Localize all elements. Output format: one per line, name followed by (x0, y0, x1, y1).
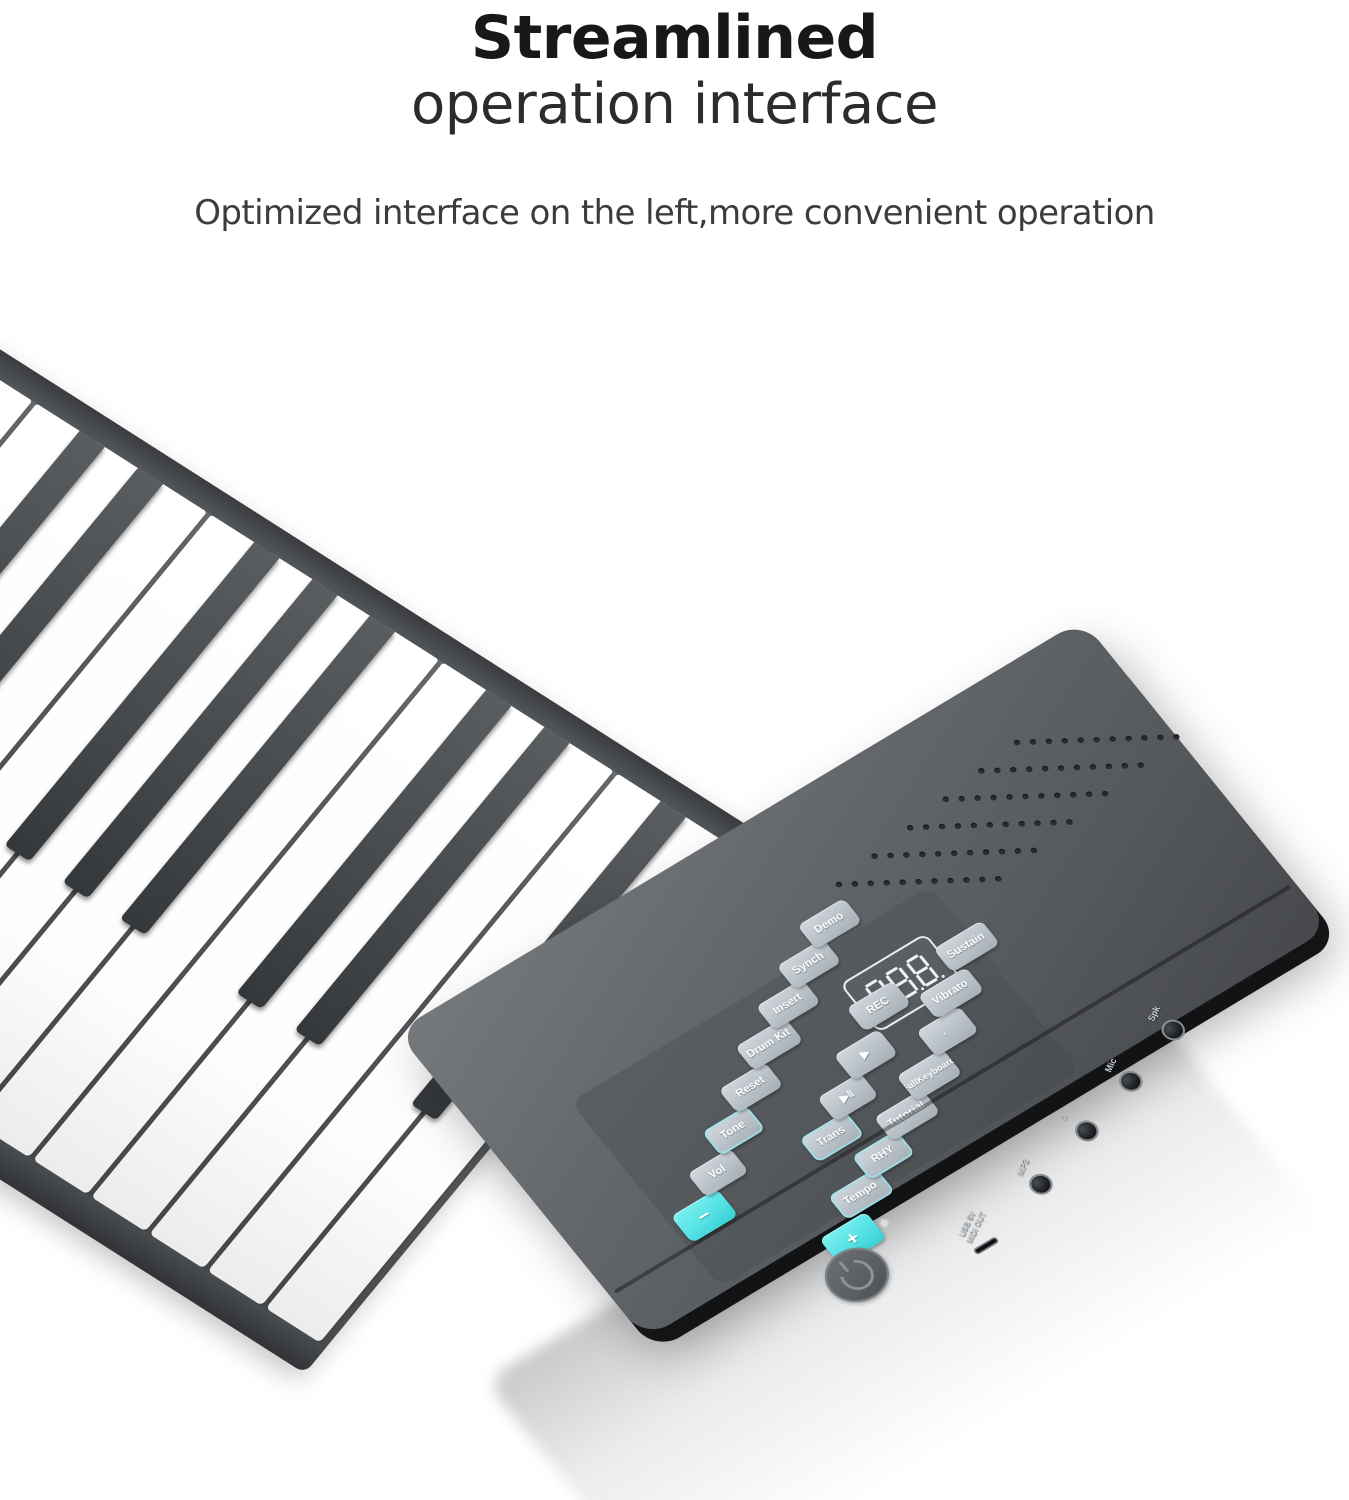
grille-hole (978, 768, 985, 774)
status-led-indicator (879, 1218, 889, 1227)
control-button-play[interactable]: ▶ (833, 1029, 898, 1081)
grille-hole (1093, 737, 1100, 743)
grille-row (907, 819, 1073, 830)
grille-row (871, 848, 1037, 859)
grille-hole (986, 822, 993, 828)
button-label-line: Keyboard (915, 1056, 958, 1086)
grille-hole (1022, 794, 1029, 800)
grille-hole (954, 823, 961, 829)
grille-row (835, 876, 1001, 887)
grille-hole (915, 879, 922, 885)
control-button-play-pause[interactable]: ▶‖ (817, 1073, 879, 1122)
grille-hole (970, 823, 977, 829)
headline-block: Streamlined operation interface Optimize… (0, 0, 1349, 233)
grille-hole (974, 795, 981, 801)
grille-hole (1045, 739, 1052, 745)
grille-hole (1014, 740, 1021, 746)
grille-hole (942, 796, 949, 802)
port-phones[interactable] (1070, 1117, 1103, 1146)
control-button-drum-kit[interactable]: Drum Kit (735, 1017, 804, 1070)
grille-hole (1141, 735, 1148, 741)
control-button-tone[interactable]: Tone (702, 1106, 766, 1156)
grille-hole (931, 878, 938, 884)
grille-row (1014, 734, 1180, 745)
product-marketing-image: −VolToneResetDrum KitInsertSynchDemoTran… (0, 0, 1349, 1500)
grille-hole (899, 879, 906, 885)
led-segment (908, 979, 919, 991)
grille-hole (851, 881, 858, 887)
grille-hole (995, 876, 1002, 882)
grille-hole (1014, 848, 1021, 854)
grille-hole (867, 881, 874, 887)
port-label-phones: ⌂ (1057, 1113, 1069, 1122)
grille-hole (939, 824, 946, 830)
control-button-vol[interactable]: Vol (687, 1148, 749, 1197)
grille-hole (1018, 821, 1025, 827)
led-segment (919, 955, 930, 967)
grille-hole (1102, 791, 1109, 797)
grille-hole (963, 877, 970, 883)
grille-hole (1030, 848, 1037, 854)
grille-hole (883, 880, 890, 886)
grille-hole (835, 882, 842, 888)
control-button-full-keyboard[interactable]: FullKeyboard (896, 1049, 963, 1102)
grille-hole (994, 767, 1001, 773)
grille-hole (999, 849, 1006, 855)
port-label-spk: Spk (1146, 1005, 1163, 1023)
grille-hole (947, 878, 954, 884)
grille-hole (1121, 763, 1128, 769)
page-title-line2: operation interface (0, 74, 1349, 137)
grille-hole (1002, 821, 1009, 827)
grille-hole (1010, 767, 1017, 773)
grille-hole (1105, 764, 1112, 770)
grille-hole (1026, 766, 1033, 772)
port-label-mp3: MP3 (1014, 1157, 1031, 1177)
grille-hole (919, 852, 926, 858)
control-button-demo[interactable]: Demo (797, 898, 862, 949)
led-segment (898, 967, 909, 979)
grille-row (978, 762, 1144, 773)
control-button-metronome[interactable]: ♩ (916, 1006, 979, 1057)
grille-hole (1042, 766, 1049, 772)
grille-hole (1086, 791, 1093, 797)
grille-hole (1029, 739, 1036, 745)
grille-row (942, 791, 1108, 802)
led-decimal-point (941, 974, 945, 978)
grille-hole (1058, 765, 1065, 771)
grille-hole (1089, 764, 1096, 770)
grille-hole (887, 853, 894, 859)
port-mic[interactable] (1114, 1067, 1147, 1096)
page-subtitle: Optimized interface on the left,more con… (0, 193, 1349, 233)
control-button-rhy[interactable]: RHY (852, 1130, 916, 1180)
led-segment (915, 966, 928, 975)
led-segment (916, 975, 927, 987)
grille-hole (935, 851, 942, 857)
grille-hole (1173, 734, 1180, 740)
port-label-usb-midi: USB 5VMIDI OUT (955, 1207, 988, 1245)
control-button-synch[interactable]: Synch (776, 939, 841, 990)
grille-hole (1066, 819, 1073, 825)
grille-hole (1109, 736, 1116, 742)
grille-hole (1070, 792, 1077, 798)
power-icon (833, 1254, 880, 1296)
grille-hole (1034, 820, 1041, 826)
module-shell: −VolToneResetDrum KitInsertSynchDemoTran… (396, 620, 1331, 1340)
grille-hole (958, 796, 965, 802)
grille-hole (1006, 794, 1013, 800)
grille-hole (1054, 793, 1061, 799)
led-segment (928, 967, 939, 979)
grille-hole (1157, 735, 1164, 741)
grille-hole (1038, 793, 1045, 799)
grille-hole (903, 852, 910, 858)
grille-hole (979, 877, 986, 883)
page-title-line1: Streamlined (0, 8, 1349, 68)
grille-hole (967, 850, 974, 856)
grille-hole (907, 825, 914, 831)
control-button-reset[interactable]: Reset (718, 1062, 783, 1113)
grille-hole (951, 850, 958, 856)
grille-hole (871, 853, 878, 859)
port-usb-midi[interactable] (973, 1236, 1000, 1255)
port-mp3[interactable] (1024, 1170, 1057, 1199)
grille-hole (1073, 765, 1080, 771)
grille-hole (983, 849, 990, 855)
grille-hole (990, 795, 997, 801)
grille-hole (1077, 737, 1084, 743)
grille-hole (1125, 736, 1132, 742)
control-module: −VolToneResetDrum KitInsertSynchDemoTran… (395, 700, 1335, 1240)
grille-hole (1137, 762, 1144, 768)
grille-hole (1061, 738, 1068, 744)
grille-hole (923, 824, 930, 830)
grille-hole (1050, 820, 1057, 826)
